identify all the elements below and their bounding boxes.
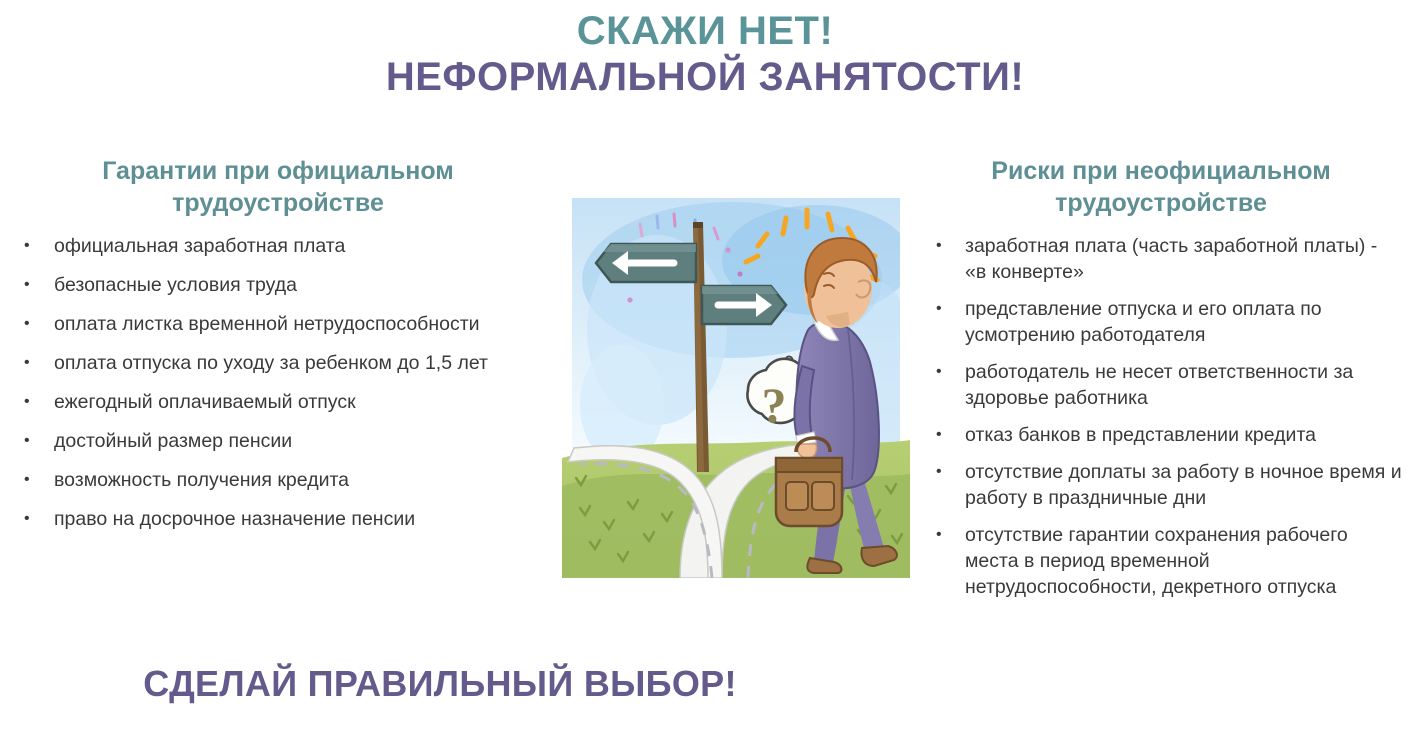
title-line-1: СКАЖИ НЕТ! (0, 8, 1410, 54)
list-item: представление отпуска и его оплата по ус… (920, 296, 1402, 348)
sign-right-arrow (702, 286, 786, 324)
poster-title: СКАЖИ НЕТ! НЕФОРМАЛЬНОЙ ЗАНЯТОСТИ! (0, 8, 1410, 100)
list-item: работодатель не несет ответственности за… (920, 359, 1402, 411)
list-item: официальная заработная плата (8, 233, 548, 260)
risks-column: Риски при неофициальном трудоустройстве … (920, 155, 1402, 611)
guarantees-column: Гарантии при официальном трудоустройстве… (8, 155, 548, 545)
list-item: заработная плата (часть заработной платы… (920, 233, 1402, 285)
list-item: отсутствие гарантии сохранения рабочего … (920, 522, 1402, 600)
title-line-2: НЕФОРМАЛЬНОЙ ЗАНЯТОСТИ! (0, 54, 1410, 100)
list-item: отказ банков в представлении кредита (920, 422, 1402, 448)
bottom-slogan: СДЕЛАЙ ПРАВИЛЬНЫЙ ВЫБОР! (0, 663, 880, 705)
crossroads-illustration-svg: ? (562, 190, 910, 578)
risks-heading: Риски при неофициальном трудоустройстве (920, 155, 1402, 219)
list-item: ежегодный оплачиваемый отпуск (8, 389, 548, 416)
sign-left-arrow (596, 244, 696, 282)
list-item: оплата отпуска по уходу за ребенком до 1… (8, 350, 548, 377)
list-item: отсутствие доплаты за работу в ночное вр… (920, 459, 1402, 511)
guarantees-heading: Гарантии при официальном трудоустройстве (8, 155, 548, 219)
risks-list: заработная плата (часть заработной платы… (920, 233, 1402, 600)
question-mark-glyph: ? (762, 377, 787, 433)
crossroads-illustration: ? (562, 190, 910, 578)
list-item: право на досрочное назначение пенсии (8, 506, 548, 533)
list-item: достойный размер пенсии (8, 428, 548, 455)
list-item: безопасные условия труда (8, 272, 548, 299)
list-item: оплата листка временной нетрудоспособнос… (8, 311, 548, 338)
list-item: возможность получения кредита (8, 467, 548, 494)
guarantees-list: официальная заработная плата безопасные … (8, 233, 548, 533)
